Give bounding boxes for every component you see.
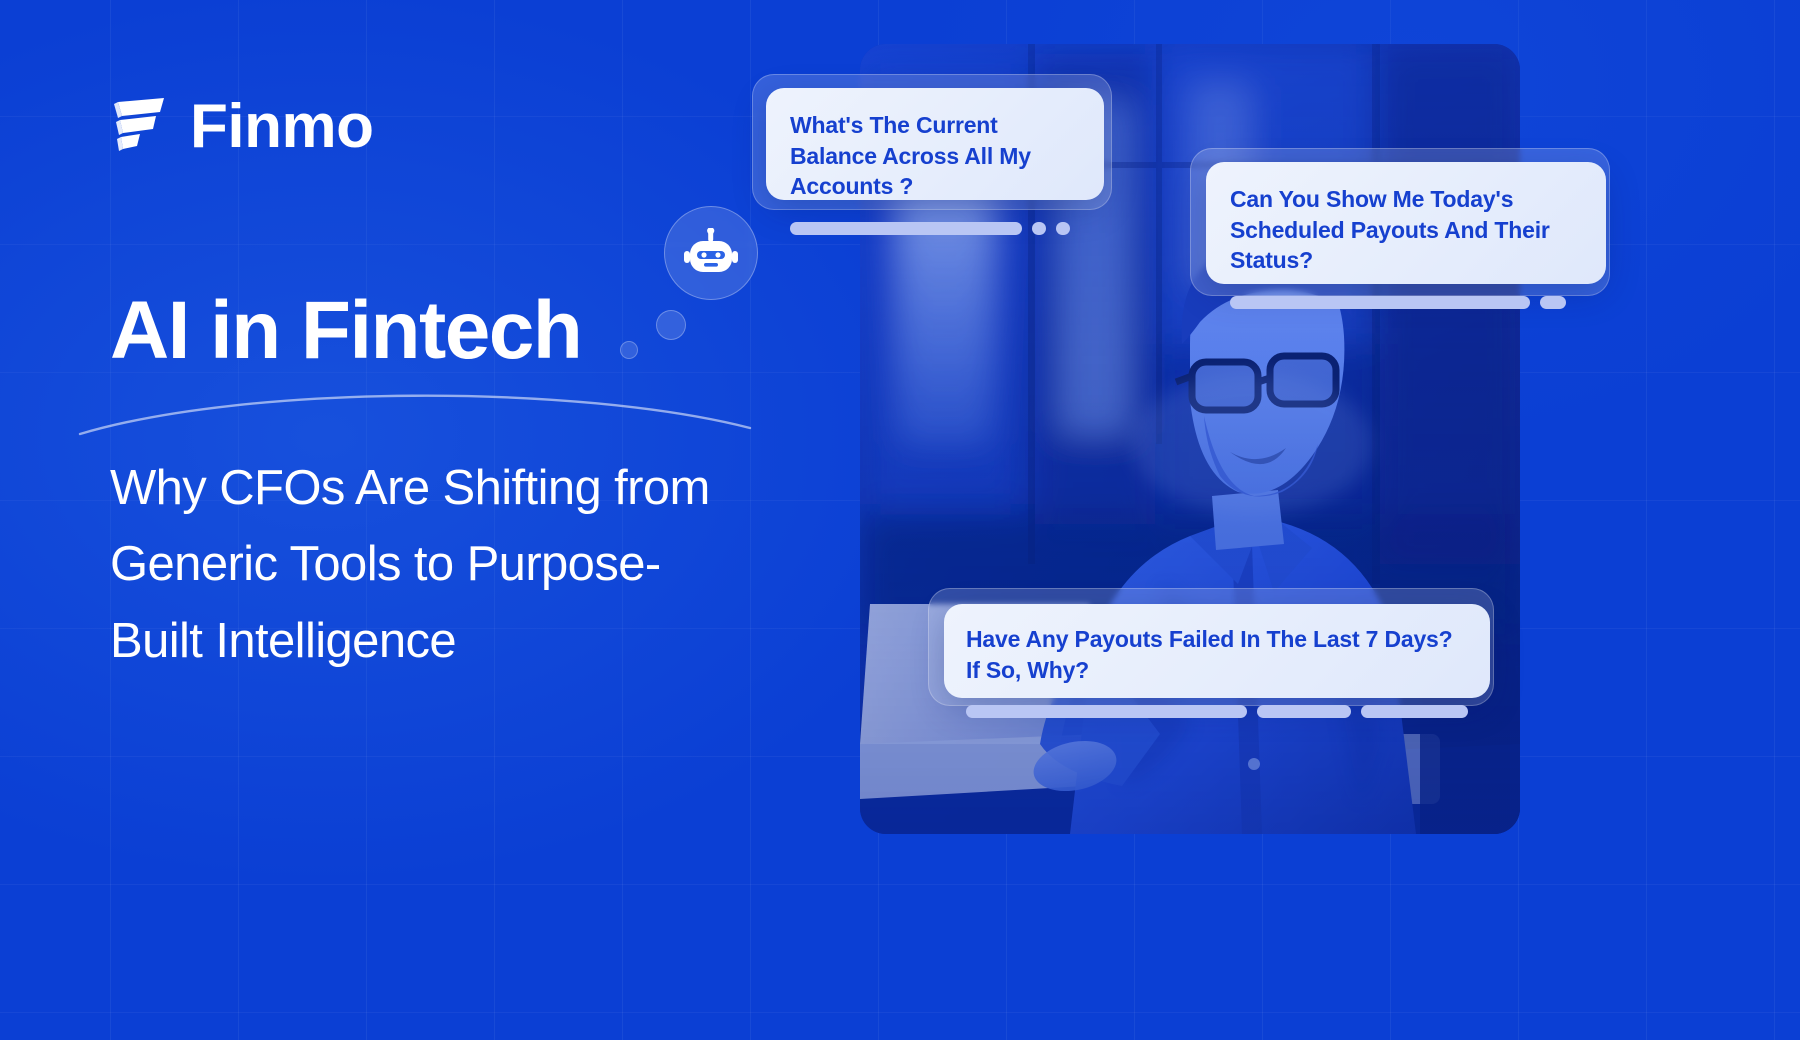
hero-banner: Finmo AI in Fintech Why CFOs Are Shiftin…	[0, 0, 1800, 1040]
placeholder-bar	[1361, 705, 1468, 718]
speech-trail-dot-large-icon	[656, 310, 686, 340]
placeholder-bar	[1540, 296, 1566, 309]
chat-card-text: Have Any Payouts Failed In The Last 7 Da…	[966, 624, 1468, 685]
placeholder-bar	[1056, 222, 1070, 235]
page-title: AI in Fintech	[110, 288, 581, 374]
left-content-column: Finmo AI in Fintech Why CFOs Are Shiftin…	[110, 0, 830, 1040]
brand-name: Finmo	[190, 96, 373, 158]
chat-card-balance[interactable]: What's The Current Balance Across All My…	[766, 88, 1104, 200]
chat-card-failed-payouts[interactable]: Have Any Payouts Failed In The Last 7 Da…	[944, 604, 1490, 698]
finmo-ribbon-f-logo-icon	[110, 96, 168, 158]
chat-card-placeholder-bars	[966, 705, 1468, 718]
placeholder-bar	[1230, 296, 1530, 309]
placeholder-bar	[1257, 705, 1351, 718]
chat-card-scheduled-payouts[interactable]: Can You Show Me Today's Scheduled Payout…	[1206, 162, 1606, 284]
robot-assistant-icon[interactable]	[664, 206, 758, 300]
brand-logo[interactable]: Finmo	[110, 96, 373, 158]
chat-card-placeholder-bars	[1230, 296, 1582, 309]
speech-trail-dot-small-icon	[620, 341, 638, 359]
chat-card-placeholder-bars	[790, 222, 1080, 235]
placeholder-bar	[790, 222, 1022, 235]
chat-card-text: Can You Show Me Today's Scheduled Payout…	[1230, 184, 1582, 276]
chat-card-text: What's The Current Balance Across All My…	[790, 110, 1080, 202]
placeholder-bar	[966, 705, 1247, 718]
placeholder-bar	[1032, 222, 1046, 235]
page-subtitle: Why CFOs Are Shifting from Generic Tools…	[110, 450, 750, 679]
